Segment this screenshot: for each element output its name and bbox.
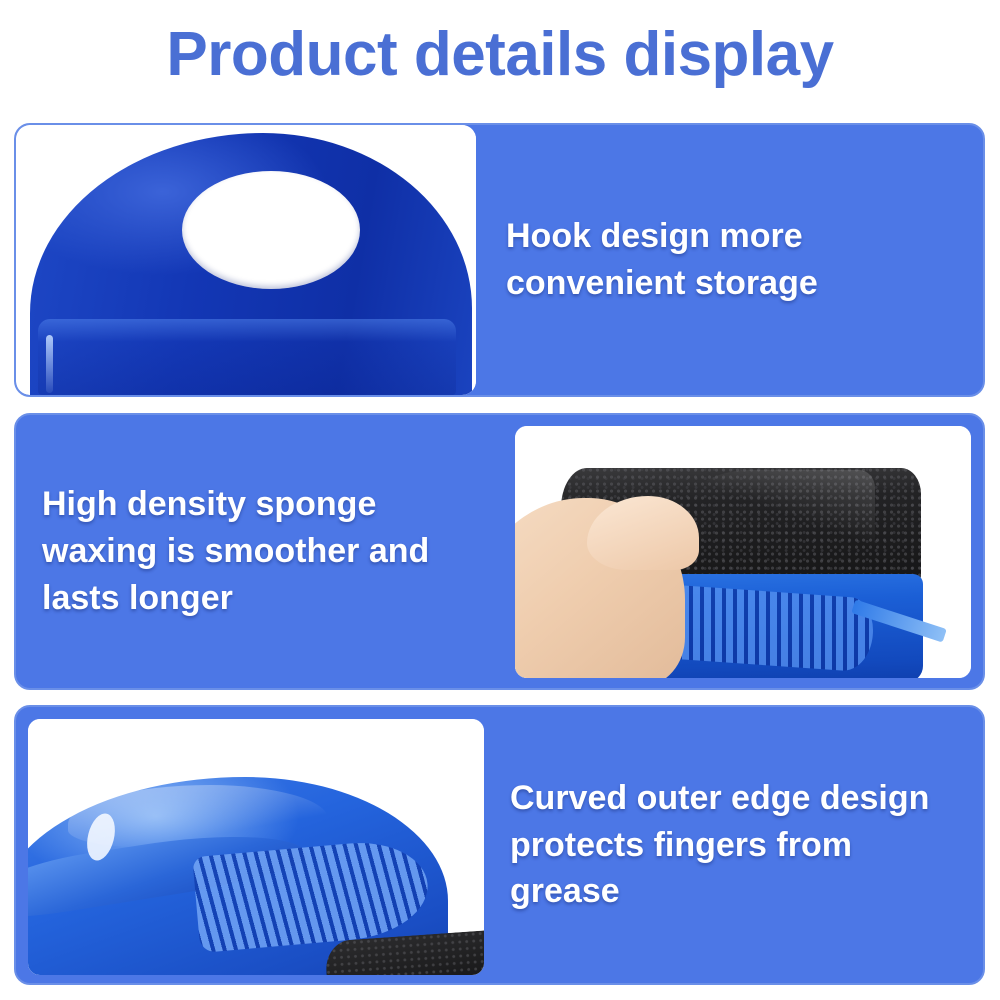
curve-photo-canvas: [28, 719, 484, 975]
feature-line: protects fingers from: [510, 822, 965, 869]
sponge-photo-canvas: [515, 426, 971, 678]
feature-line: High density sponge: [42, 481, 497, 528]
feature-panel-hook-design: Hook design more convenient storage: [14, 123, 985, 397]
hook-base-ridge: [38, 319, 456, 395]
blue-hook-plate-photo: [16, 125, 476, 395]
feature-line: lasts longer: [42, 575, 497, 622]
feature-panel-high-density-sponge: High density sponge waxing is smoother a…: [14, 413, 985, 690]
feature-text-hook-design: Hook design more convenient storage: [476, 125, 983, 395]
feature-line: convenient storage: [506, 260, 959, 307]
curved-edge-closeup-photo: [28, 719, 484, 975]
product-details-page: Product details display Hook design more…: [0, 0, 1000, 1000]
hook-hole-oval: [182, 171, 360, 289]
feature-line: grease: [510, 868, 965, 915]
page-title: Product details display: [0, 22, 1000, 87]
hook-photo-canvas: [16, 125, 476, 395]
feature-line: waxing is smoother and: [42, 528, 497, 575]
feature-text-curved-outer-edge: Curved outer edge design protects finger…: [484, 707, 983, 983]
copy-lines: Curved outer edge design protects finger…: [510, 775, 965, 916]
feature-line: Curved outer edge design: [510, 775, 965, 822]
sponge-in-hand-photo: [515, 426, 971, 678]
copy-lines: High density sponge waxing is smoother a…: [42, 481, 497, 622]
feature-text-high-density-sponge: High density sponge waxing is smoother a…: [16, 415, 515, 688]
feature-panel-curved-outer-edge: Curved outer edge design protects finger…: [14, 705, 985, 985]
copy-lines: Hook design more convenient storage: [506, 213, 959, 307]
feature-line: Hook design more: [506, 213, 959, 260]
hook-gloss-highlight: [46, 335, 53, 393]
curve-gloss-highlight: [68, 785, 328, 847]
